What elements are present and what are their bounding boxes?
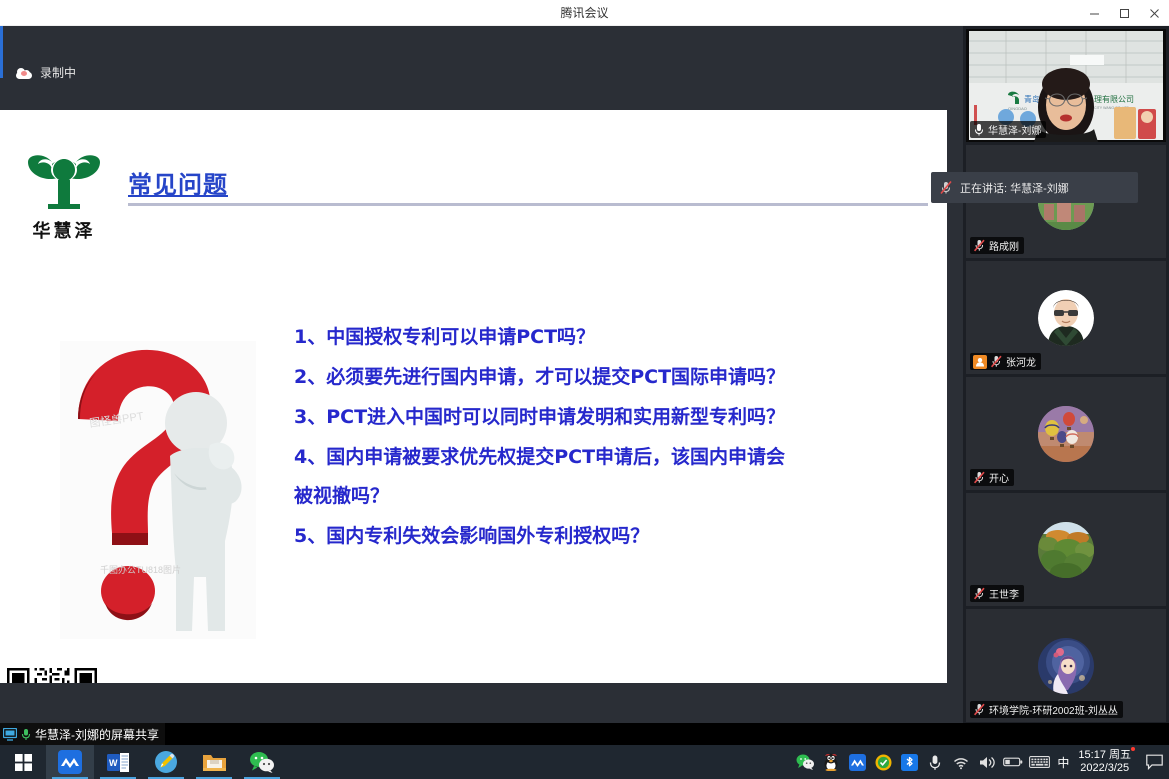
mic-muted-icon — [990, 355, 1003, 368]
anime-girl-portrait-avatar — [1038, 638, 1094, 694]
tray-microphone[interactable] — [922, 745, 948, 779]
faq-line: 被视撤吗？ — [294, 487, 934, 506]
tencent-meeting-icon — [58, 750, 82, 774]
qr-code-icon — [2, 663, 107, 683]
svg-text:千图办公TU818图片: 千图办公TU818图片 — [100, 564, 181, 575]
company-logo-text: 华慧泽 — [18, 217, 110, 243]
recording-label: 录制中 — [40, 64, 76, 81]
tray-security-shield[interactable] — [870, 745, 896, 779]
window-accent-edge — [0, 26, 3, 78]
tray-wifi[interactable] — [948, 745, 974, 779]
tray-qq[interactable] — [818, 745, 844, 779]
participant-name: 路成刚 — [989, 238, 1019, 253]
wechat-icon — [249, 751, 275, 773]
mic-muted-icon — [973, 587, 986, 600]
svg-text:QINGDAO: QINGDAO — [1008, 106, 1027, 111]
participant-name-chip: 环境学院-环研2002班-刘丛丛 — [970, 701, 1123, 718]
taskbar-item-wechat[interactable] — [238, 745, 286, 779]
windows-taskbar: W — [0, 745, 1169, 779]
editor-pencil-icon — [154, 750, 178, 774]
maximize-icon — [1119, 8, 1130, 19]
file-explorer-icon — [202, 752, 227, 773]
monitor-icon — [3, 728, 17, 741]
action-center-button[interactable] — [1139, 745, 1169, 779]
participant-name: 开心 — [989, 470, 1009, 485]
faq-line: 4、国内申请被要求优先权提交PCT申请后，该国内申请会 — [294, 448, 934, 467]
clock-date: 2022/3/25 — [1080, 762, 1129, 775]
participant-tile[interactable]: 张河龙 — [966, 261, 1166, 374]
bluetooth-icon — [901, 754, 918, 771]
qr-code — [2, 663, 107, 683]
recording-indicator: 录制中 — [16, 64, 76, 81]
screen-share-label-group[interactable]: 华慧泽-刘娜的屏幕共享 — [0, 723, 165, 745]
participant-name-chip: 华慧泽-刘娜 — [970, 121, 1046, 138]
question-mark-thinker-icon: 图怪兽PPT 千图办公TU818图片 — [60, 341, 256, 639]
tray-wechat[interactable] — [792, 745, 818, 779]
participant-name-chip: 王世李 — [970, 585, 1024, 602]
faq-item-5: 5、国内专利失效会影响国外专利授权吗？ — [294, 527, 934, 546]
faq-question-list: 1、中国授权专利可以申请PCT吗？ 2、必须要先进行国内申请，才可以提交PCT国… — [294, 328, 934, 567]
faq-line: 3、PCT进入中国时可以同时申请发明和实用新型专利吗？ — [294, 408, 934, 427]
faq-line: 1、中国授权专利可以申请PCT吗？ — [294, 328, 934, 347]
avatar — [1038, 406, 1094, 462]
action-center-icon — [1146, 754, 1163, 770]
windows-start-icon — [15, 754, 32, 771]
faq-line: 5、国内专利失效会影响国外专利授权吗？ — [294, 527, 934, 546]
battery-icon — [1003, 756, 1023, 768]
taskbar-item-file-explorer[interactable] — [190, 745, 238, 779]
screen-share-text: 华慧泽-刘娜的屏幕共享 — [35, 726, 159, 743]
taskbar-item-word[interactable]: W — [94, 745, 142, 779]
avatar — [1038, 290, 1094, 346]
tray-bluetooth[interactable] — [896, 745, 922, 779]
svg-text:理有限公司: 理有限公司 — [1094, 94, 1134, 104]
window-titlebar: 腾讯会议 — [0, 0, 1169, 26]
faq-line: 2、必须要先进行国内申请，才可以提交PCT国际申请吗？ — [294, 368, 934, 387]
clock-time: 15:17 周五 — [1078, 749, 1131, 762]
mic-muted-icon — [973, 239, 986, 252]
taskbar-item-tencent-meeting[interactable] — [46, 745, 94, 779]
question-mark-illustration: 图怪兽PPT 千图办公TU818图片 — [60, 341, 256, 639]
mic-muted-icon — [973, 471, 986, 484]
participant-name-chip: 开心 — [970, 469, 1014, 486]
tray-keyboard[interactable] — [1026, 745, 1052, 779]
wechat-tray-icon — [796, 754, 815, 770]
shared-slide: 华慧泽 常见问题 图怪兽PPT — [0, 110, 947, 683]
tray-volume[interactable] — [974, 745, 1000, 779]
huahuize-tree-logo — [18, 148, 110, 210]
title-underline-rule — [128, 203, 928, 206]
hot-air-balloons-avatar — [1038, 406, 1094, 462]
keyboard-icon — [1029, 755, 1050, 769]
participant-name: 环境学院-环研2002班-刘丛丛 — [989, 702, 1118, 717]
faq-item-3: 3、PCT进入中国时可以同时申请发明和实用新型专利吗？ — [294, 408, 934, 427]
qq-penguin-icon — [823, 753, 839, 771]
security-shield-icon — [875, 754, 892, 771]
ime-indicator[interactable]: 中 — [1052, 745, 1074, 779]
windows-start-button[interactable] — [0, 745, 46, 779]
company-logo: 华慧泽 — [18, 148, 110, 243]
avatar — [1038, 638, 1094, 694]
mic-muted-icon — [939, 180, 953, 195]
slide-title: 常见问题 — [128, 165, 228, 200]
participant-name-chip: 路成刚 — [970, 237, 1024, 254]
participant-tile[interactable]: 环境学院-环研2002班-刘丛丛 — [966, 609, 1166, 722]
minimize-icon — [1089, 8, 1100, 19]
participant-tile[interactable]: 开心 — [966, 377, 1166, 490]
faq-item-2: 2、必须要先进行国内申请，才可以提交PCT国际申请吗？ — [294, 368, 934, 387]
window-controls — [1079, 0, 1169, 26]
cloud-record-icon — [16, 67, 32, 79]
maximize-button[interactable] — [1109, 0, 1139, 26]
close-button[interactable] — [1139, 0, 1169, 26]
mic-on-icon — [973, 123, 985, 136]
notification-dot — [1131, 747, 1135, 751]
taskbar-clock[interactable]: 15:17 周五 2022/3/25 — [1074, 745, 1139, 779]
tencent-meeting-tray-icon — [849, 754, 866, 771]
screen-share-bar: 华慧泽-刘娜的屏幕共享 — [0, 723, 1169, 745]
mic-muted-icon — [973, 703, 986, 716]
participant-tile[interactable]: 王世李 — [966, 493, 1166, 606]
svg-text:W: W — [109, 758, 118, 768]
faq-item-4: 4、国内申请被要求优先权提交PCT申请后，该国内申请会 被视撤吗？ — [294, 448, 934, 506]
participant-name: 张河龙 — [1006, 354, 1036, 369]
participant-tile[interactable]: 青岛 QINGDAO 理有限公司 CITY WANG CO.,LTD — [966, 29, 1166, 142]
close-icon — [1149, 8, 1160, 19]
meeting-stage: 录制中 华慧泽 常见问题 — [0, 26, 1169, 723]
system-tray: 中 15:17 周五 2022/3/25 — [792, 745, 1169, 779]
svg-text:青岛: 青岛 — [1024, 94, 1040, 104]
active-speaker-toast: 正在讲话: 华慧泽-刘娜 — [931, 172, 1138, 203]
cartoon-man-sunglasses-avatar — [1038, 290, 1094, 346]
tray-tencent-meeting[interactable] — [844, 745, 870, 779]
avatar — [1038, 522, 1094, 578]
participant-name: 华慧泽-刘娜 — [988, 122, 1041, 137]
wifi-icon — [952, 755, 970, 770]
word-icon: W — [107, 751, 130, 774]
participant-name: 王世李 — [989, 586, 1019, 601]
taskbar-item-editor[interactable] — [142, 745, 190, 779]
participant-name-chip: 张河龙 — [970, 353, 1041, 370]
minimize-button[interactable] — [1079, 0, 1109, 26]
faq-item-1: 1、中国授权专利可以申请PCT吗？ — [294, 328, 934, 347]
volume-icon — [978, 755, 996, 770]
tray-battery[interactable] — [1000, 745, 1026, 779]
microphone-icon — [928, 754, 942, 771]
tencent-meeting-window: 腾讯会议 录制中 — [0, 0, 1169, 779]
autumn-forest-avatar — [1038, 522, 1094, 578]
mic-green-icon — [21, 728, 31, 741]
window-title: 腾讯会议 — [0, 0, 1169, 26]
active-speaker-text: 正在讲话: 华慧泽-刘娜 — [960, 180, 1069, 196]
participant-strip[interactable]: 青岛 QINGDAO 理有限公司 CITY WANG CO.,LTD — [963, 26, 1169, 723]
host-badge-icon — [973, 355, 987, 369]
